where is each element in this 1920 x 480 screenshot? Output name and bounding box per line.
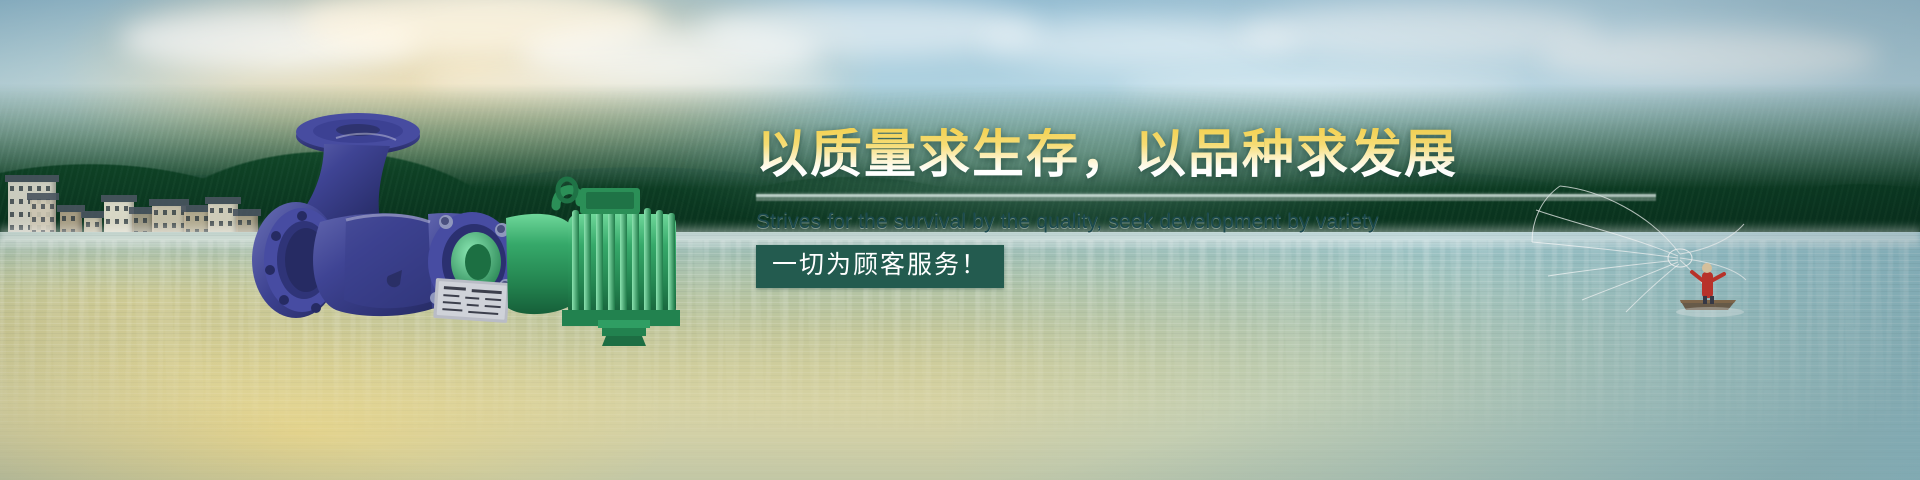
pump-nameplate [433, 278, 510, 323]
casing-shading [344, 213, 436, 308]
motor-cooling-fins [572, 206, 675, 326]
electric-motor [506, 179, 680, 346]
hero-banner: 以质量求生存，以品种求发展 Strives for the survival b… [0, 0, 1920, 480]
building-windows [32, 204, 54, 209]
lifting-eye-icon [556, 179, 580, 206]
building-roof [27, 193, 59, 200]
pump-svg [250, 110, 690, 350]
headline-divider [756, 192, 1656, 201]
building-roof [81, 211, 105, 218]
banner-headline: 以质量求生存，以品种求发展 [756, 128, 1696, 183]
building-windows [186, 216, 208, 221]
service-slogan-badge: 一切为顾客服务！ [756, 245, 1004, 288]
building-windows [154, 210, 184, 215]
banner-text-block: 以质量求生存，以品种求发展 Strives for the survival b… [756, 128, 1696, 288]
building-roof [101, 195, 137, 202]
cloud-6 [1540, 30, 1880, 82]
building-roof [5, 175, 59, 182]
building-windows [10, 186, 54, 191]
banner-subtitle: Strives for the survival by the quality,… [756, 210, 1696, 234]
building-windows [62, 216, 80, 221]
building-roof [205, 197, 241, 204]
industrial-centrifugal-pump [250, 110, 690, 350]
